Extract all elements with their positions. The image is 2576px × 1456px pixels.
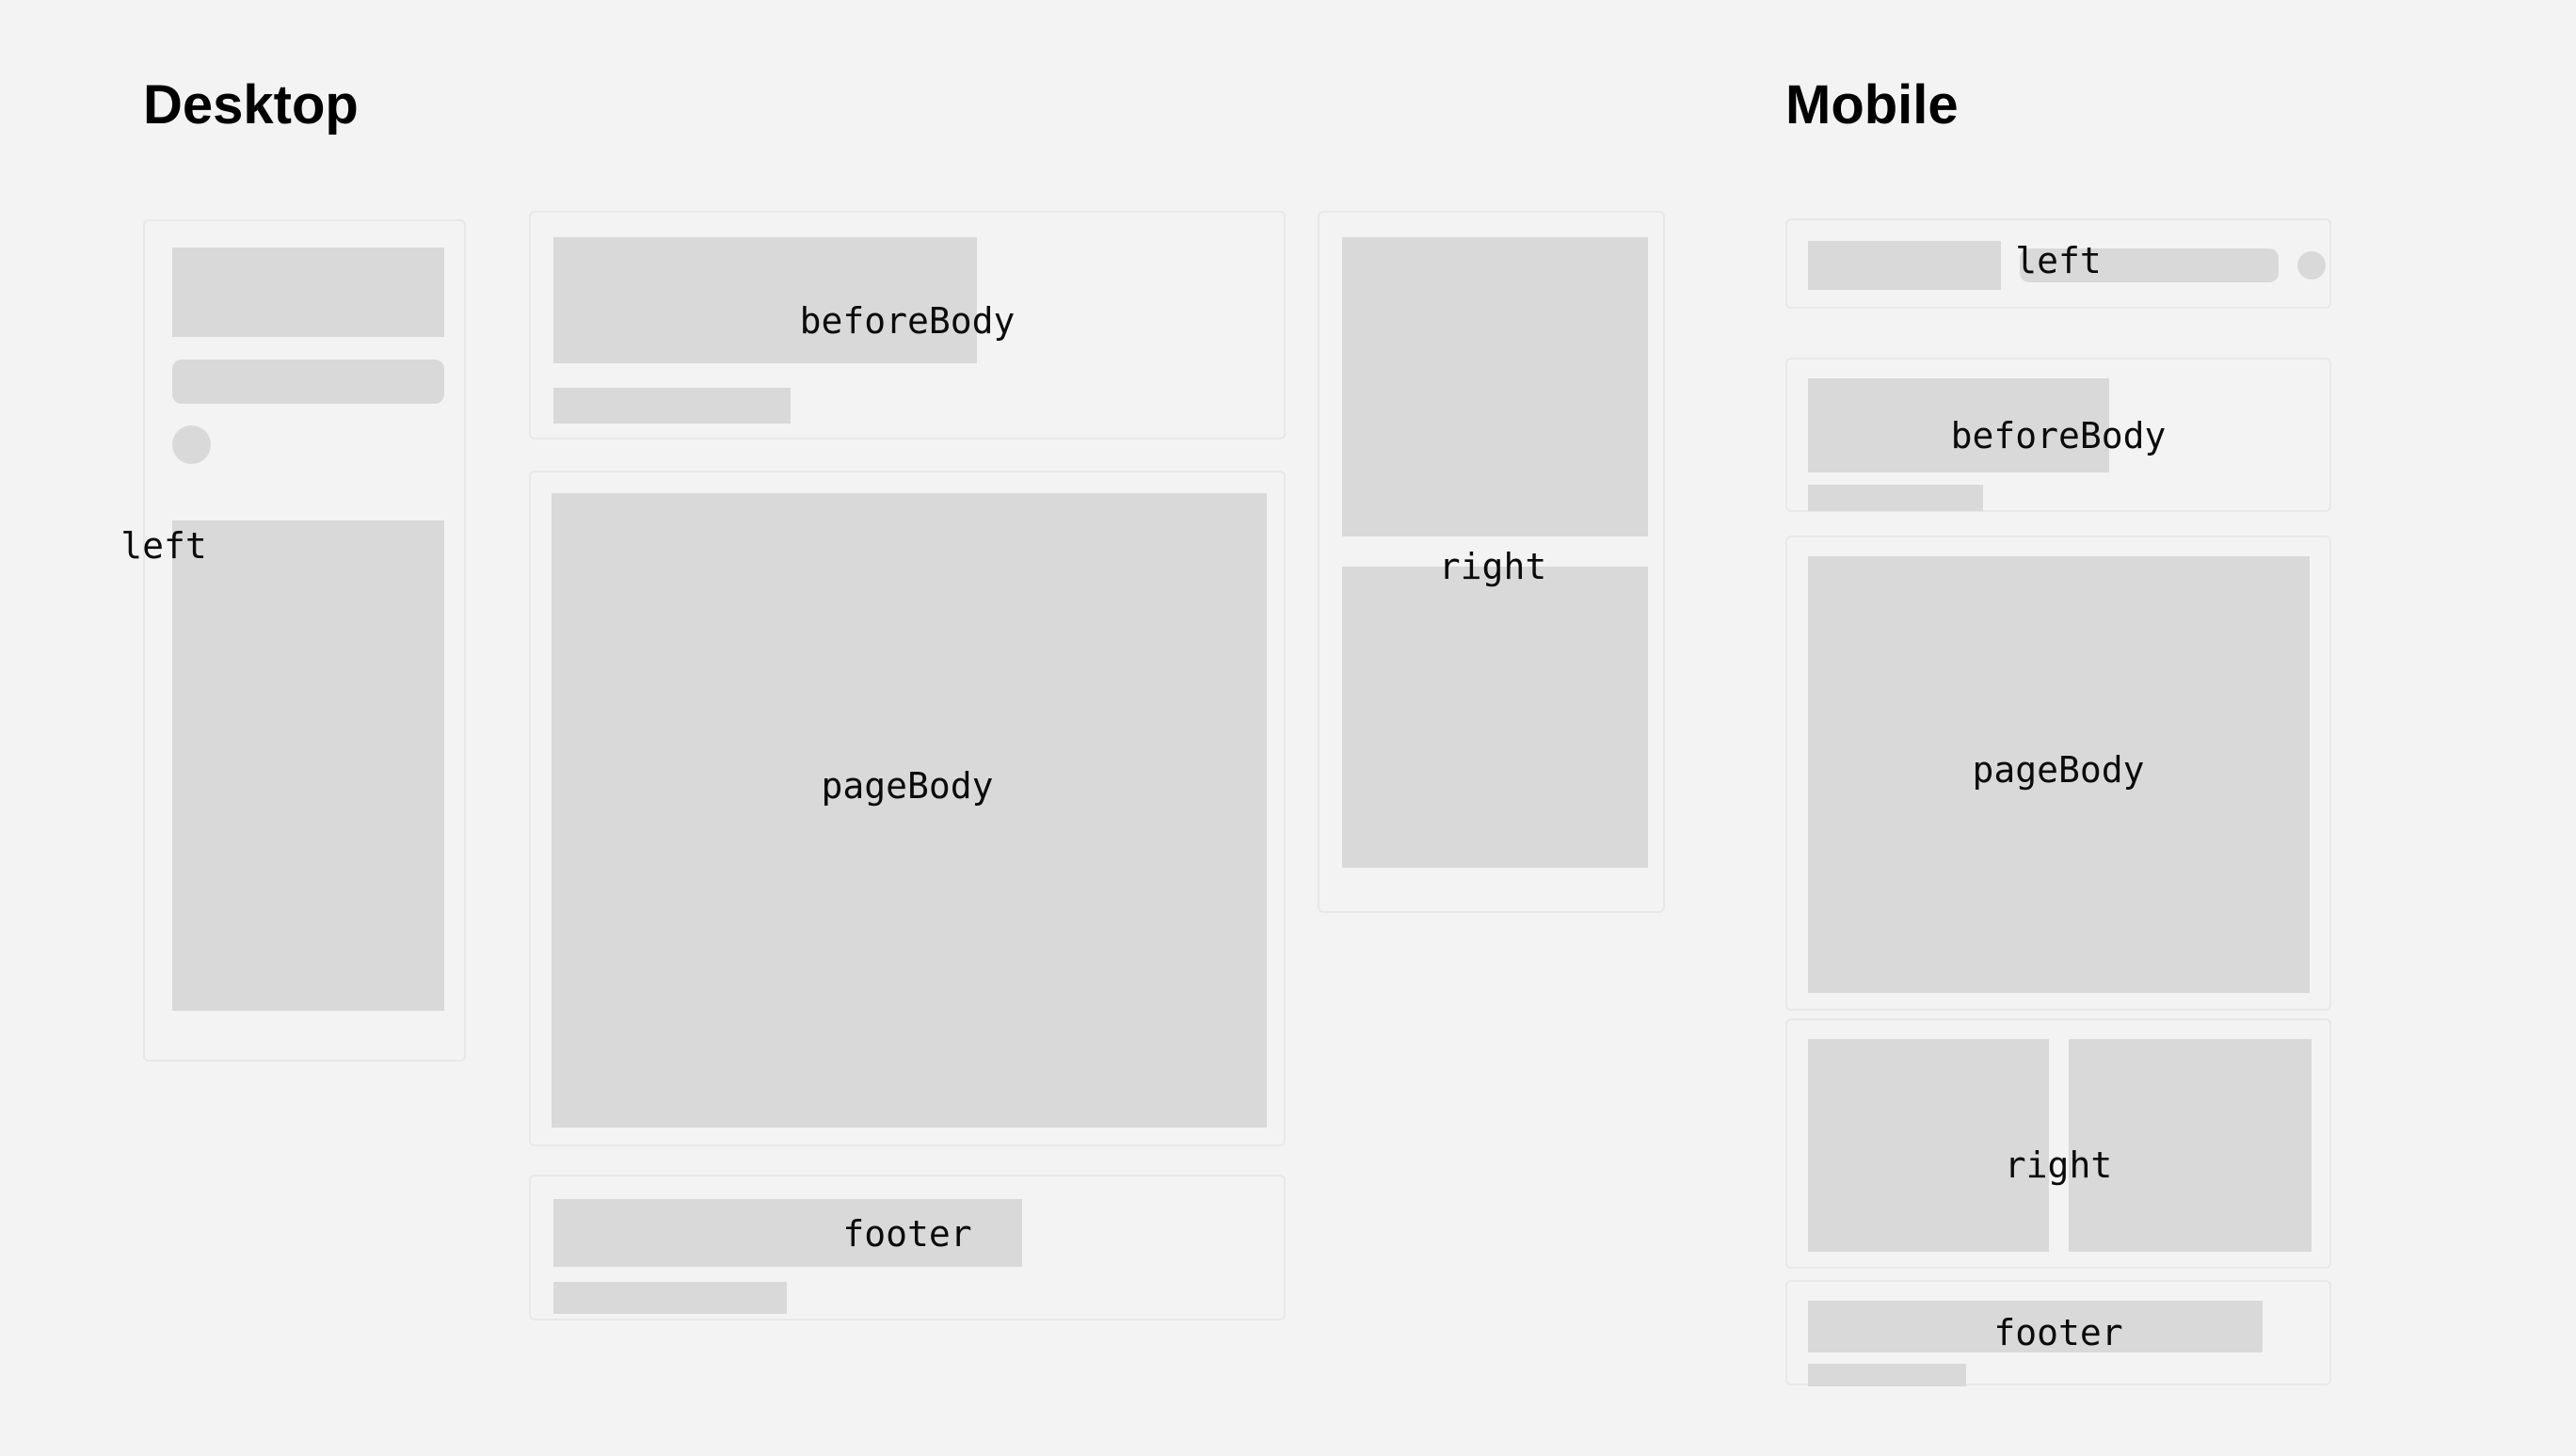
desktop-left-placeholder-circle (172, 425, 211, 464)
mobile-right-placeholder-block-1 (1808, 1039, 2049, 1252)
desktop-page-body-placeholder-block (552, 493, 1267, 1128)
mobile-right-placeholder-block-2 (2069, 1039, 2312, 1252)
desktop-before-body-placeholder-block-1 (553, 237, 977, 363)
desktop-page-body-region-panel[interactable] (529, 471, 1286, 1146)
desktop-footer-placeholder-block-2 (553, 1282, 787, 1314)
mobile-before-body-region-panel[interactable] (1785, 358, 2331, 512)
mobile-section-title: Mobile (1785, 78, 1959, 133)
desktop-right-region-panel[interactable] (1318, 211, 1665, 913)
desktop-before-body-region-panel[interactable] (529, 211, 1286, 440)
desktop-before-body-placeholder-block-2 (553, 388, 791, 424)
desktop-right-placeholder-block-2 (1342, 567, 1648, 868)
mobile-before-body-placeholder-block-2 (1808, 485, 1983, 511)
mobile-footer-placeholder-block-1 (1808, 1301, 2263, 1352)
desktop-right-placeholder-block-1 (1342, 237, 1648, 536)
mobile-page-body-placeholder-block (1808, 556, 2310, 993)
mobile-footer-region-panel[interactable] (1785, 1280, 2331, 1385)
mobile-footer-placeholder-block-2 (1808, 1364, 1966, 1386)
desktop-left-placeholder-block-2 (172, 520, 444, 1011)
desktop-section-title: Desktop (143, 78, 359, 133)
mobile-left-region-panel[interactable] (1785, 218, 2331, 309)
desktop-footer-placeholder-block-1 (553, 1199, 1022, 1267)
desktop-footer-region-panel[interactable] (529, 1175, 1286, 1320)
desktop-left-placeholder-block-1 (172, 248, 444, 337)
mobile-left-placeholder-circle (2297, 251, 2326, 280)
mobile-page-body-region-panel[interactable] (1785, 536, 2331, 1011)
mobile-right-region-panel[interactable] (1785, 1018, 2331, 1269)
mobile-left-placeholder-bar (2020, 248, 2279, 282)
mobile-left-placeholder-block-1 (1808, 241, 2001, 290)
desktop-left-placeholder-bar (172, 360, 444, 404)
desktop-left-region-panel[interactable] (143, 219, 466, 1062)
mobile-before-body-placeholder-block-1 (1808, 378, 2109, 472)
